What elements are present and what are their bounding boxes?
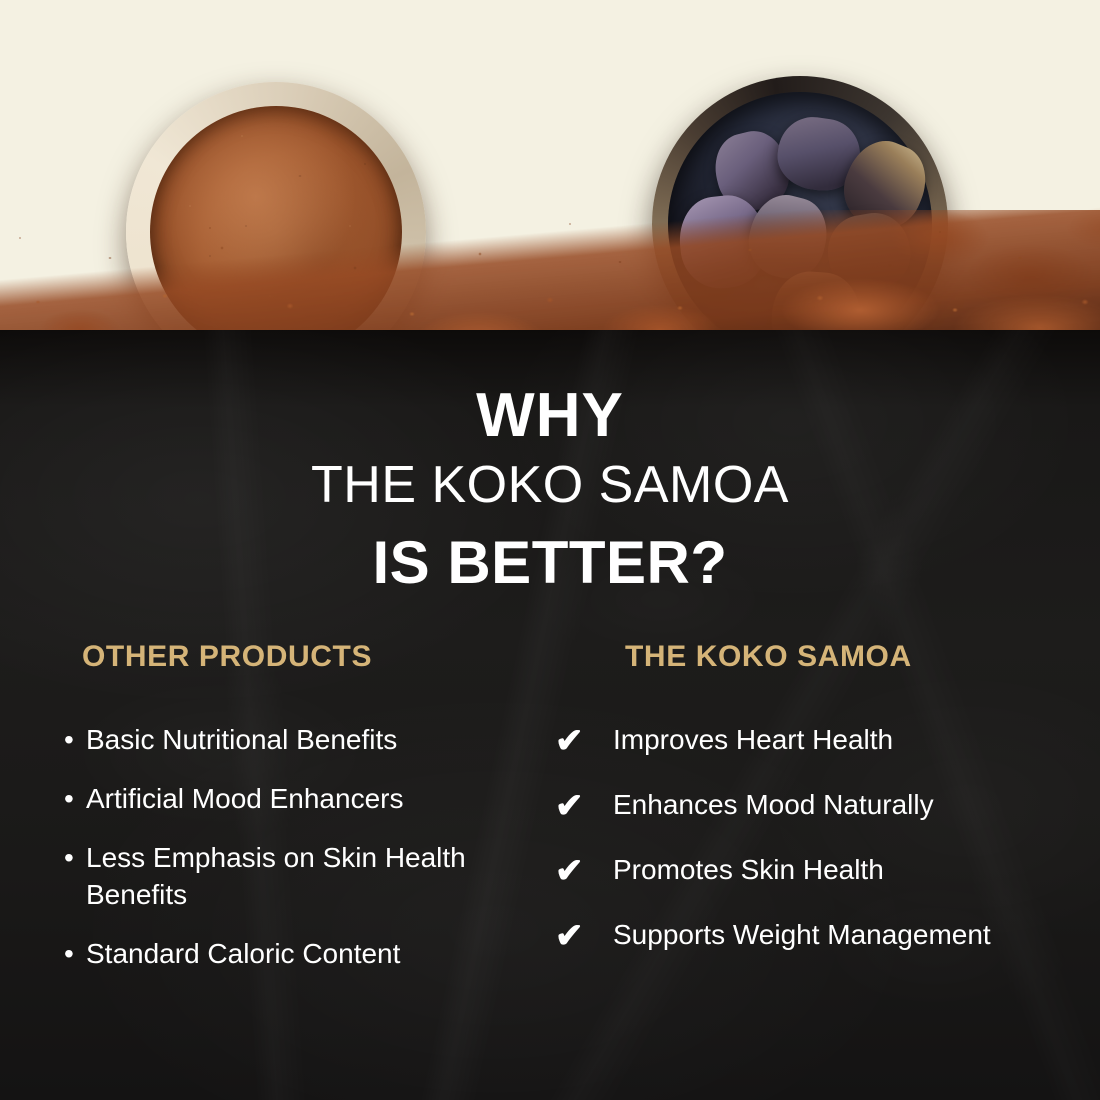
page-title: WHY THE KOKO SAMOA IS BETTER? bbox=[0, 385, 1100, 593]
koko-samoa-benefits-list: ✔ Improves Heart Health ✔ Enhances Mood … bbox=[555, 722, 1100, 956]
headline-line-3: IS BETTER? bbox=[0, 533, 1100, 593]
list-item: • Basic Nutritional Benefits bbox=[64, 722, 545, 759]
list-item-label: Supports Weight Management bbox=[613, 917, 1100, 954]
check-icon: ✔ bbox=[555, 917, 613, 956]
list-item: ✔ Improves Heart Health bbox=[555, 722, 1100, 761]
poster-content: WHY THE KOKO SAMOA IS BETTER? OTHER PROD… bbox=[0, 0, 1100, 1100]
bullet-dot-icon: • bbox=[64, 840, 86, 877]
other-products-list: • Basic Nutritional Benefits • Artificia… bbox=[64, 722, 545, 973]
bullet-dot-icon: • bbox=[64, 936, 86, 973]
list-item-label: Enhances Mood Naturally bbox=[613, 787, 1100, 824]
column-heading-koko-samoa: THE KOKO SAMOA bbox=[625, 640, 1100, 674]
list-item: ✔ Enhances Mood Naturally bbox=[555, 787, 1100, 826]
check-icon: ✔ bbox=[555, 787, 613, 826]
headline-line-1: WHY bbox=[0, 385, 1100, 447]
check-icon: ✔ bbox=[555, 852, 613, 891]
comparison-column-koko-samoa: THE KOKO SAMOA ✔ Improves Heart Health ✔… bbox=[545, 640, 1100, 995]
promo-poster: WHY THE KOKO SAMOA IS BETTER? OTHER PROD… bbox=[0, 0, 1100, 1100]
list-item-label: Less Emphasis on Skin Health Benefits bbox=[86, 840, 545, 914]
list-item-label: Standard Caloric Content bbox=[86, 936, 545, 973]
column-heading-other-products: OTHER PRODUCTS bbox=[82, 640, 545, 674]
list-item: • Less Emphasis on Skin Health Benefits bbox=[64, 840, 545, 914]
list-item: • Artificial Mood Enhancers bbox=[64, 781, 545, 818]
bullet-dot-icon: • bbox=[64, 722, 86, 759]
comparison-column-other-products: OTHER PRODUCTS • Basic Nutritional Benef… bbox=[0, 640, 545, 995]
comparison-table: OTHER PRODUCTS • Basic Nutritional Benef… bbox=[0, 640, 1100, 995]
list-item-label: Promotes Skin Health bbox=[613, 852, 1100, 889]
list-item: ✔ Promotes Skin Health bbox=[555, 852, 1100, 891]
list-item-label: Basic Nutritional Benefits bbox=[86, 722, 545, 759]
list-item: • Standard Caloric Content bbox=[64, 936, 545, 973]
list-item-label: Artificial Mood Enhancers bbox=[86, 781, 545, 818]
headline-line-2: THE KOKO SAMOA bbox=[0, 459, 1100, 511]
list-item: ✔ Supports Weight Management bbox=[555, 917, 1100, 956]
bullet-dot-icon: • bbox=[64, 781, 86, 818]
check-icon: ✔ bbox=[555, 722, 613, 761]
list-item-label: Improves Heart Health bbox=[613, 722, 1100, 759]
